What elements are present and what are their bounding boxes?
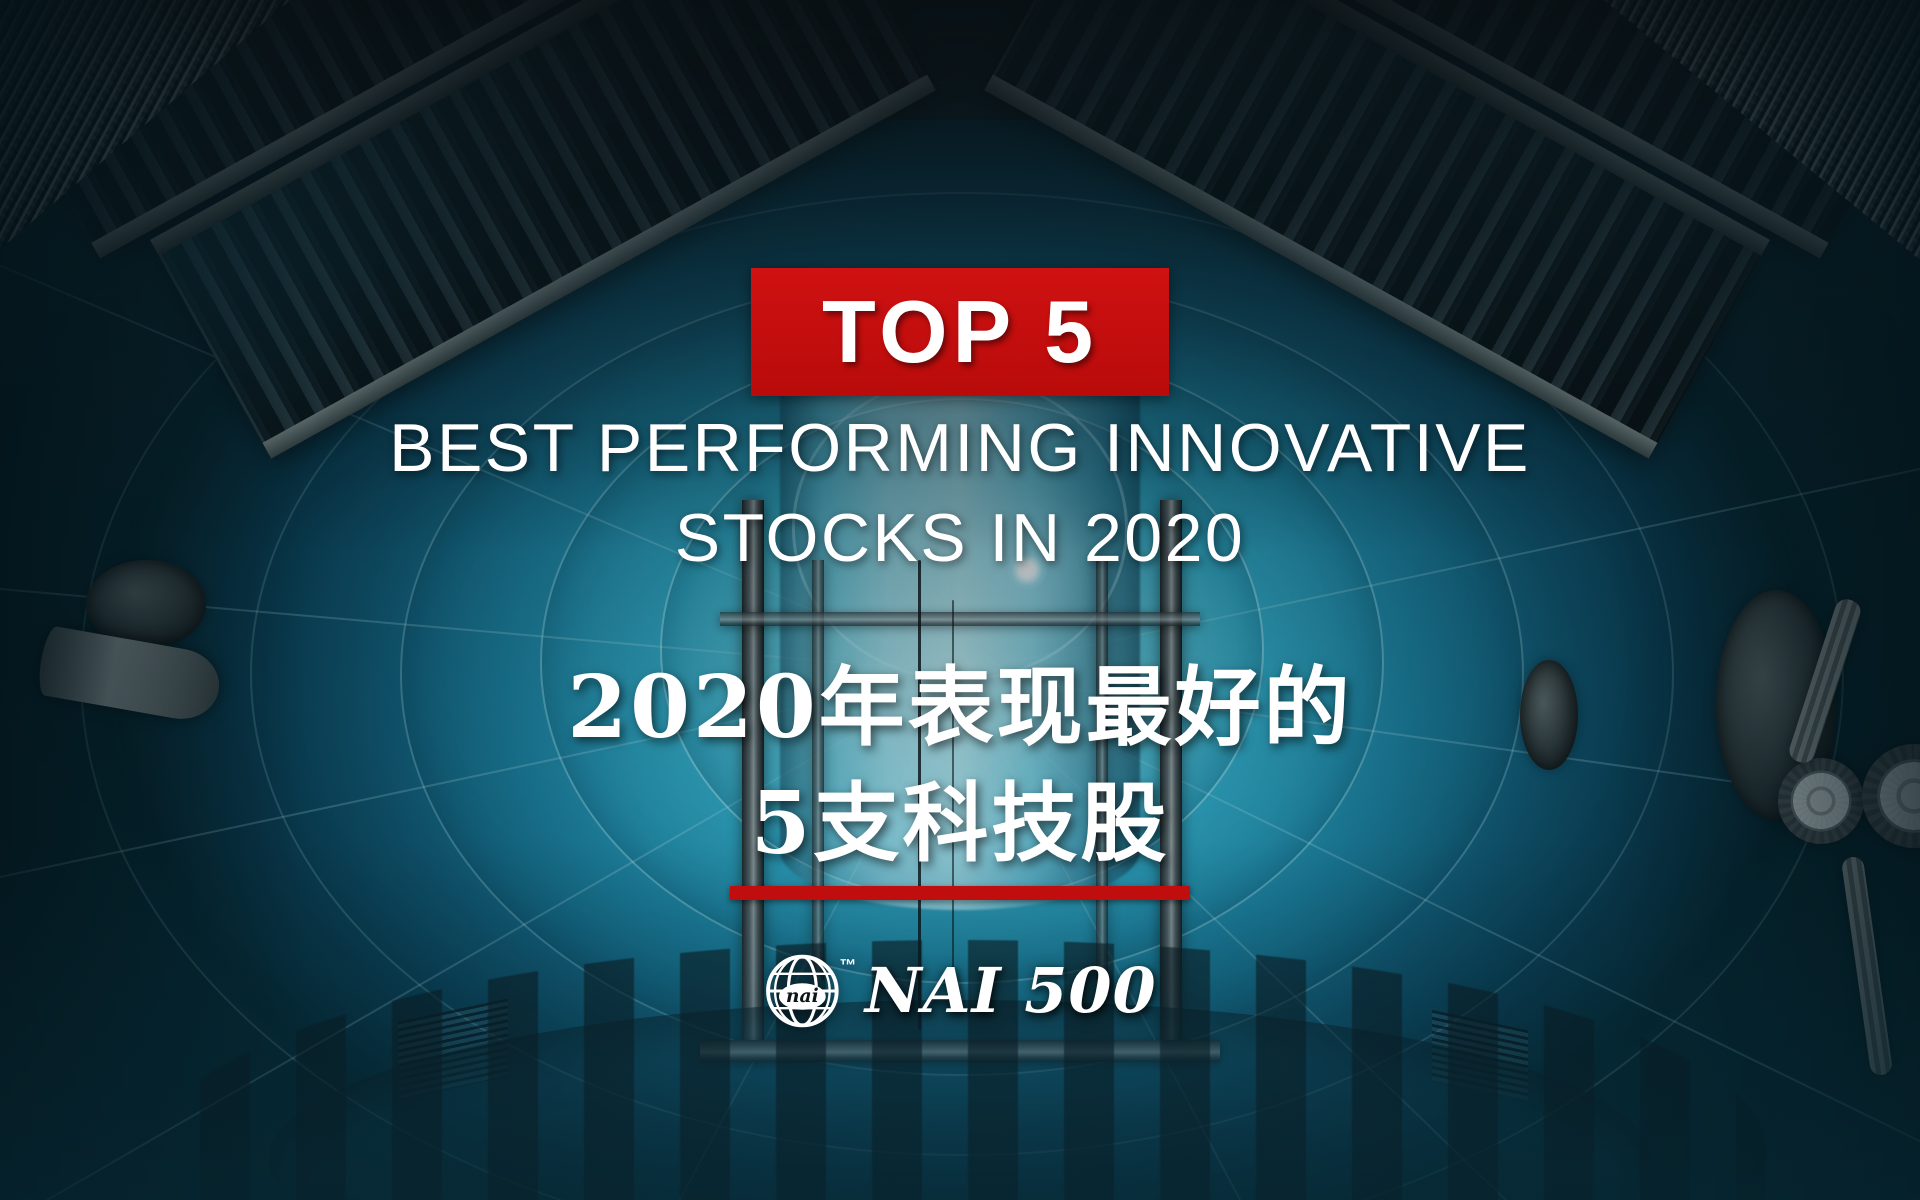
poster-content: TOP 5 BEST PERFORMING INNOVATIVE STOCKS … [0,0,1920,1200]
poster-canvas: TOP 5 BEST PERFORMING INNOVATIVE STOCKS … [0,0,1920,1200]
accent-underline [730,886,1190,900]
trademark-icon: ™ [839,956,857,976]
headline-chinese-line1: 2020年表现最好的 [0,650,1920,766]
headline-chinese-line2: 5支科技股 [0,766,1920,882]
top5-badge-label: TOP 5 [822,288,1098,376]
top5-badge: TOP 5 [751,268,1169,396]
svg-text:nai: nai [786,985,819,1007]
logo-wordmark: NAI 500 [865,960,1157,1022]
nai500-logo: nai ™ NAI 500 [763,952,1156,1030]
globe-icon: nai [763,952,841,1030]
headline-english-line2: STOCKS IN 2020 [0,494,1920,584]
headline-english-line1: BEST PERFORMING INNOVATIVE [0,404,1920,494]
headline-english: BEST PERFORMING INNOVATIVE STOCKS IN 202… [0,404,1920,584]
headline-chinese: 2020年表现最好的 5支科技股 [0,650,1920,882]
